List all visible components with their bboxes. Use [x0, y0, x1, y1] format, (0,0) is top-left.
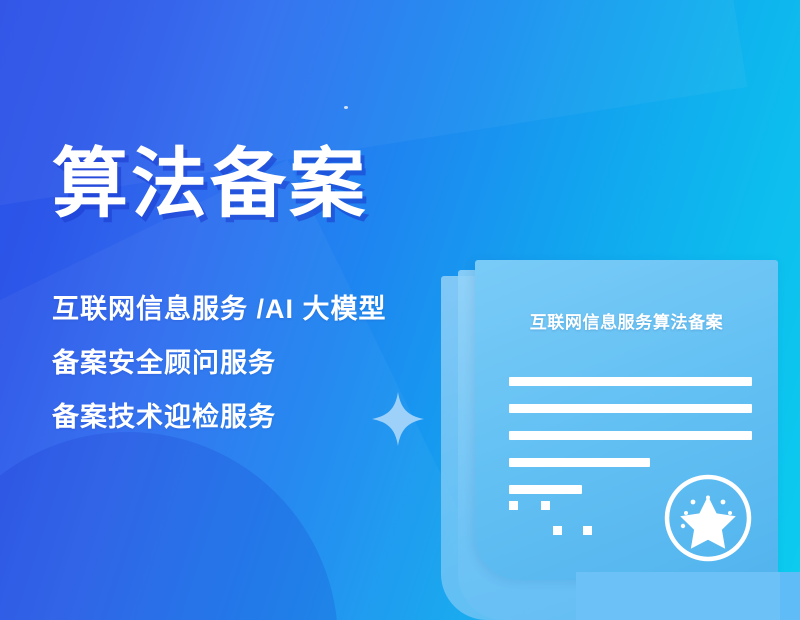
subtitle-line-1: 互联网信息服务 /AI 大模型	[52, 296, 482, 323]
document-line	[509, 431, 752, 440]
square-mark	[553, 526, 562, 535]
square-mark	[509, 501, 518, 510]
small-light-dot	[344, 106, 348, 109]
document-line	[509, 485, 582, 494]
subtitle-line-2: 备案安全顾问服务	[52, 350, 482, 377]
square-mark	[541, 501, 550, 510]
page-title: 算法备案	[52, 146, 472, 224]
document-page-back-2	[441, 276, 771, 620]
bottom-right-panel	[576, 572, 800, 620]
document-body-lines	[509, 377, 752, 512]
document-line	[509, 458, 650, 467]
document-line	[509, 404, 752, 413]
document-line	[509, 377, 752, 386]
background-circle	[0, 432, 338, 620]
square-mark	[583, 526, 592, 535]
document-square-marks	[509, 501, 689, 561]
headline-block: 算法备案	[52, 146, 472, 224]
document-card: 互联网信息服务算法备案	[475, 260, 778, 580]
subtitle-line-3: 备案技术迎检服务	[52, 404, 482, 431]
document-page-back-1	[458, 270, 778, 620]
subtitle-list: 互联网信息服务 /AI 大模型 备案安全顾问服务 备案技术迎检服务	[52, 296, 482, 431]
promo-banner: 算法备案 互联网信息服务 /AI 大模型 备案安全顾问服务 备案技术迎检服务 互…	[0, 0, 800, 620]
star-seal-icon	[662, 472, 754, 564]
document-title: 互联网信息服务算法备案	[475, 308, 778, 333]
bottom-right-panel-edge	[780, 572, 800, 620]
